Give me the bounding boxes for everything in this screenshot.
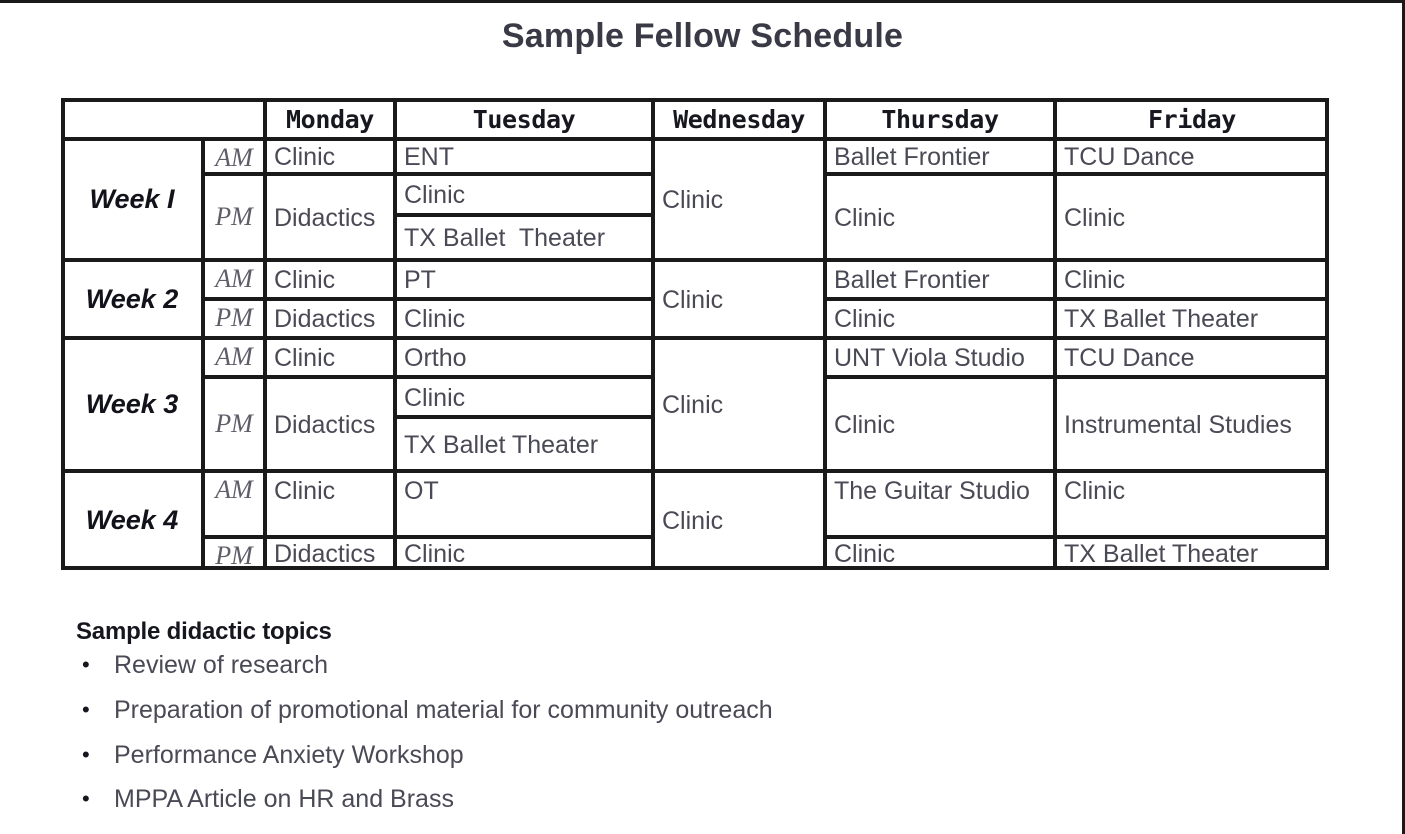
period-label-week2-pm: PM bbox=[203, 299, 265, 338]
cell-week4-pm-monday: Didactics bbox=[265, 537, 395, 570]
period-label-week4-pm: PM bbox=[203, 537, 265, 570]
cell-week4-am-monday: Clinic bbox=[265, 471, 395, 537]
page-title: Sample Fellow Schedule bbox=[0, 17, 1405, 56]
cell-week1-pm-friday: Clinic bbox=[1055, 174, 1329, 260]
cell-week3-am-tuesday: Ortho bbox=[395, 338, 653, 377]
cell-week2-wednesday: Clinic bbox=[653, 260, 825, 338]
document-page: Sample Fellow Schedule Monday Tuesday We… bbox=[0, 0, 1405, 834]
cell-week1-am-monday: Clinic bbox=[265, 139, 395, 174]
period-label-week4-am: AM bbox=[203, 471, 265, 537]
cell-week2-pm-thursday: Clinic bbox=[825, 299, 1055, 338]
period-label-week1-am: AM bbox=[203, 139, 265, 174]
list-item-label: Preparation of promotional material for … bbox=[114, 696, 773, 724]
didactic-topics-heading: Sample didactic topics bbox=[76, 618, 1176, 646]
table-corner-cell bbox=[61, 98, 265, 139]
cell-week2-pm-friday: TX Ballet Theater bbox=[1055, 299, 1329, 338]
row-header-week-2: Week 2 bbox=[61, 260, 203, 338]
row-header-week-1: Week I bbox=[61, 139, 203, 260]
list-item: • Performance Anxiety Workshop bbox=[76, 741, 1176, 770]
row-header-week-4-label: Week 4 bbox=[86, 505, 179, 536]
period-label-week1-pm: PM bbox=[203, 174, 265, 260]
bullet-icon: • bbox=[82, 652, 90, 677]
bullet-icon: • bbox=[82, 697, 90, 722]
cell-week4-am-thursday: The Guitar Studio bbox=[825, 471, 1055, 537]
cell-week1-pm-tuesday-bottom: TX Ballet Theater bbox=[395, 215, 653, 260]
row-header-week-3: Week 3 bbox=[61, 338, 203, 471]
cell-week2-am-tuesday: PT bbox=[395, 260, 653, 299]
list-item-label: Performance Anxiety Workshop bbox=[114, 741, 464, 769]
cell-week1-pm-thursday: Clinic bbox=[825, 174, 1055, 260]
cell-week2-am-monday: Clinic bbox=[265, 260, 395, 299]
list-item: • Preparation of promotional material fo… bbox=[76, 696, 1176, 725]
period-label-week2-am: AM bbox=[203, 260, 265, 299]
bullet-icon: • bbox=[82, 742, 90, 767]
column-header-thursday: Thursday bbox=[825, 98, 1055, 139]
cell-week3-am-monday: Clinic bbox=[265, 338, 395, 377]
list-item: • MPPA Article on HR and Brass bbox=[76, 785, 1176, 814]
cell-week1-pm-monday: Didactics bbox=[265, 174, 395, 260]
cell-week2-pm-tuesday: Clinic bbox=[395, 299, 653, 338]
list-item-label: MPPA Article on HR and Brass bbox=[114, 785, 454, 813]
cell-week4-am-friday: Clinic bbox=[1055, 471, 1329, 537]
cell-week1-am-friday: TCU Dance bbox=[1055, 139, 1329, 174]
bullet-icon: • bbox=[82, 786, 90, 811]
column-header-friday: Friday bbox=[1055, 98, 1329, 139]
cell-week2-pm-monday: Didactics bbox=[265, 299, 395, 338]
cell-week1-pm-tuesday-top: Clinic bbox=[395, 174, 653, 215]
cell-week2-am-thursday: Ballet Frontier bbox=[825, 260, 1055, 299]
cell-week3-am-friday: TCU Dance bbox=[1055, 338, 1329, 377]
column-header-wednesday: Wednesday bbox=[653, 98, 825, 139]
cell-week1-am-tuesday: ENT bbox=[395, 139, 653, 174]
didactic-topics-section: Sample didactic topics • Review of resea… bbox=[76, 618, 1176, 830]
cell-week3-am-thursday: UNT Viola Studio bbox=[825, 338, 1055, 377]
cell-week4-pm-tuesday: Clinic bbox=[395, 537, 653, 570]
cell-week1-wednesday: Clinic bbox=[653, 139, 825, 260]
list-item-label: Review of research bbox=[114, 651, 328, 679]
cell-week4-pm-friday: TX Ballet Theater bbox=[1055, 537, 1329, 570]
cell-week1-am-thursday: Ballet Frontier bbox=[825, 139, 1055, 174]
column-header-tuesday: Tuesday bbox=[395, 98, 653, 139]
period-label-week3-am: AM bbox=[203, 338, 265, 377]
list-item: • Review of research bbox=[76, 651, 1176, 680]
cell-week3-pm-tuesday-top: Clinic bbox=[395, 377, 653, 417]
row-header-week-4: Week 4 bbox=[61, 471, 203, 570]
cell-week4-pm-thursday: Clinic bbox=[825, 537, 1055, 570]
cell-week2-am-friday: Clinic bbox=[1055, 260, 1329, 299]
cell-week3-wednesday: Clinic bbox=[653, 338, 825, 471]
cell-week3-pm-thursday: Clinic bbox=[825, 377, 1055, 471]
cell-week4-wednesday: Clinic bbox=[653, 471, 825, 570]
cell-week3-pm-monday: Didactics bbox=[265, 377, 395, 471]
cell-week3-pm-tuesday-bottom: TX Ballet Theater bbox=[395, 417, 653, 471]
cell-week4-am-tuesday: OT bbox=[395, 471, 653, 537]
fellow-schedule-table: Monday Tuesday Wednesday Thursday Friday… bbox=[61, 98, 1329, 570]
cell-week3-pm-friday: Instrumental Studies bbox=[1055, 377, 1329, 471]
period-label-week3-pm: PM bbox=[203, 377, 265, 471]
didactic-topics-list: • Review of research • Preparation of pr… bbox=[76, 651, 1176, 814]
column-header-monday: Monday bbox=[265, 98, 395, 139]
